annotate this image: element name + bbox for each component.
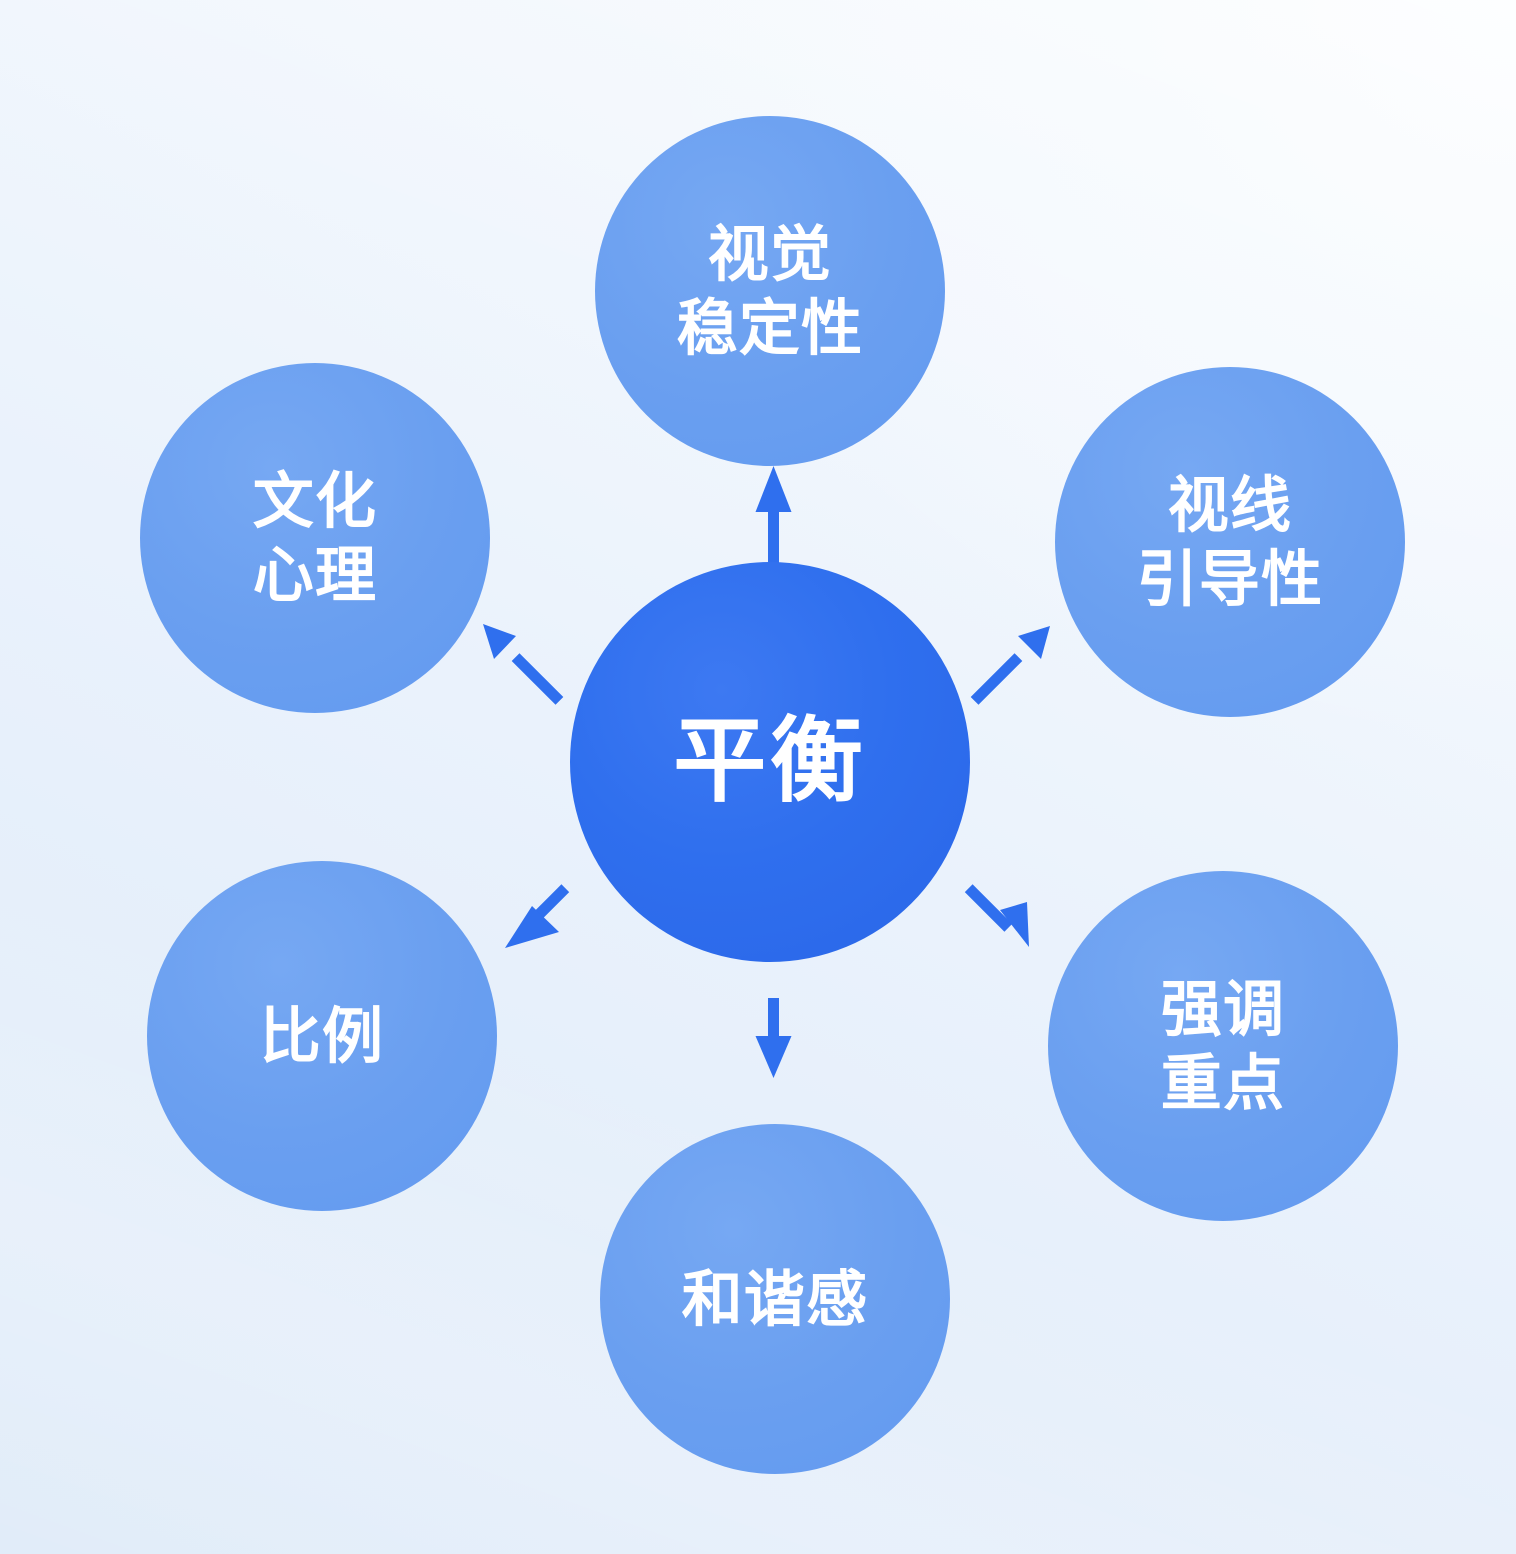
arrow-up-icon — [756, 466, 792, 563]
diagram-canvas: 平衡 视觉 稳定性 视线 引导性 强调 重点 和谐感 比例 文化 心理 — [0, 0, 1516, 1554]
node-visual-stability-line-1: 视觉 — [708, 217, 832, 291]
arrow-down-left-icon — [505, 884, 569, 948]
node-visual-stability-line-2: 稳定性 — [677, 291, 864, 365]
node-proportion[interactable]: 比例 — [147, 861, 497, 1211]
arrow-up-right-icon — [971, 626, 1050, 705]
node-cultural-psychology-line-2: 心理 — [253, 538, 377, 612]
node-harmony-line-1: 和谐感 — [682, 1262, 869, 1336]
node-emphasis-focus-line-1: 强调 — [1161, 972, 1285, 1046]
center-node-label: 平衡 — [673, 705, 866, 818]
node-cultural-psychology-line-1: 文化 — [253, 464, 377, 538]
center-node-balance[interactable]: 平衡 — [570, 562, 970, 962]
node-emphasis-focus-line-2: 重点 — [1161, 1046, 1285, 1120]
node-gaze-guidance[interactable]: 视线 引导性 — [1055, 367, 1405, 717]
arrow-down-right-icon — [965, 884, 1029, 947]
node-gaze-guidance-line-1: 视线 — [1168, 468, 1292, 542]
node-visual-stability[interactable]: 视觉 稳定性 — [595, 116, 945, 466]
node-emphasis-focus[interactable]: 强调 重点 — [1048, 871, 1398, 1221]
node-gaze-guidance-line-2: 引导性 — [1137, 542, 1324, 616]
node-harmony[interactable]: 和谐感 — [600, 1124, 950, 1474]
node-cultural-psychology[interactable]: 文化 心理 — [140, 363, 490, 713]
arrow-up-left-icon — [483, 624, 563, 705]
node-proportion-line-1: 比例 — [260, 999, 384, 1073]
arrow-down-icon — [756, 998, 792, 1078]
